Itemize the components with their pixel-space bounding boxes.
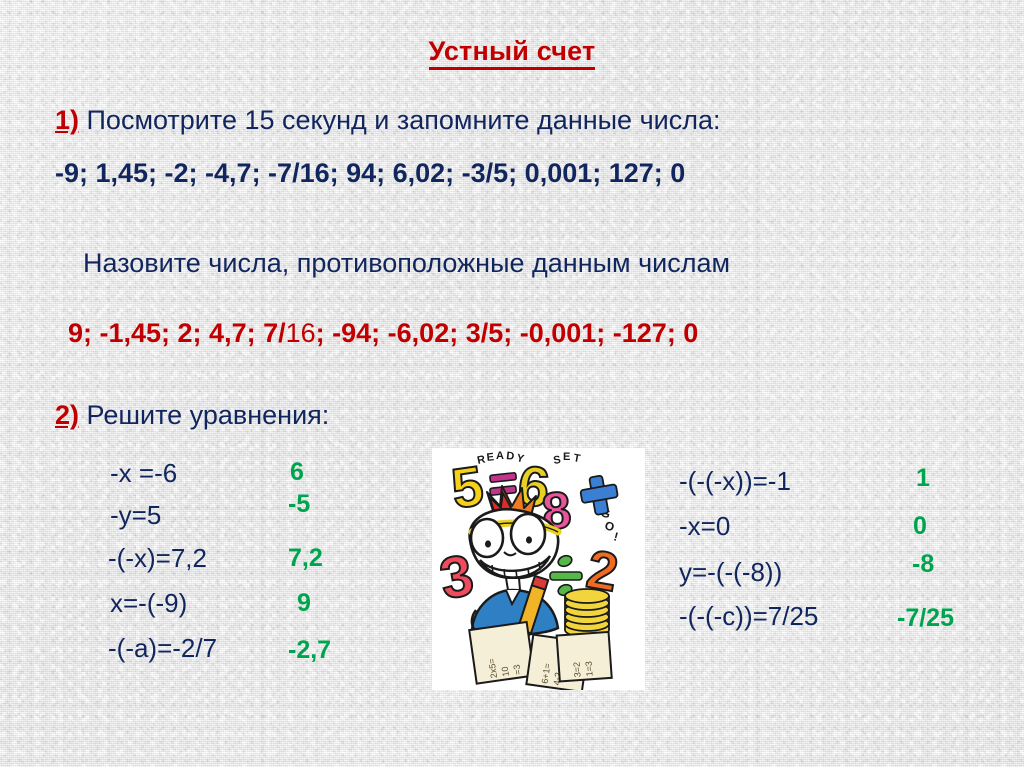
task1-answers-thin: 16 — [286, 318, 316, 348]
page-title: Устный счет — [0, 36, 1024, 67]
task1-prompt-text: Посмотрите 15 секунд и запомните данные … — [79, 105, 720, 135]
svg-text:D: D — [506, 450, 515, 463]
task1-answers: 9; -1,45; 2; 4,7; 7/16; -94; -6,02; 3/5;… — [68, 318, 698, 349]
equation-right-4: -(-(-c))=7/25 — [679, 601, 818, 632]
slide-content: Устный счет 1) Посмотрите 15 секунд и за… — [0, 0, 1024, 767]
task2-prompt-text: Решите уравнения: — [79, 400, 329, 430]
task1-prompt: 1) Посмотрите 15 секунд и запомните данн… — [55, 105, 721, 136]
equation-left-3: -(-x)=7,2 — [108, 543, 207, 574]
svg-text:E: E — [563, 451, 570, 463]
task1-numbers: -9; 1,45; -2; -4,7; -7/16; 94; 6,02; -3/… — [55, 158, 685, 189]
equation-left-4: x=-(-9) — [110, 588, 187, 619]
task1-sub-prompt: Назовите числа, противоположные данным ч… — [83, 248, 730, 279]
task1-answers-prefix: 9; -1,45; 2; 4,7; 7/ — [68, 318, 286, 348]
task1-marker: 1) — [55, 105, 79, 135]
equation-right-3-answer: -8 — [912, 550, 934, 579]
equation-left-5-answer: -2,7 — [288, 636, 331, 665]
svg-text:1=3: 1=3 — [584, 661, 595, 677]
equation-right-2-answer: 0 — [913, 512, 927, 541]
clipart-coin-stack — [565, 589, 609, 637]
task2-marker: 2) — [55, 400, 79, 430]
page-title-text: Устный счет — [429, 36, 596, 70]
equation-right-1-answer: 1 — [916, 464, 930, 493]
svg-text:10: 10 — [500, 666, 511, 677]
task2-prompt: 2) Решите уравнения: — [55, 400, 329, 431]
equation-right-1: -(-(-x))=-1 — [679, 466, 791, 497]
task1-answers-suffix: ; -94; -6,02; 3/5; -0,001; -127; 0 — [316, 318, 699, 348]
svg-text:E: E — [486, 451, 495, 464]
equation-right-2: -x=0 — [679, 511, 730, 542]
equation-left-1-answer: 6 — [290, 458, 304, 487]
equation-left-1: -x =-6 — [110, 458, 177, 489]
math-student-cartoon-image: R E A D Y S E T G O ! 5 — [432, 448, 645, 690]
equation-left-4-answer: 9 — [297, 589, 311, 618]
equation-right-4-answer: -7/25 — [897, 604, 954, 633]
equation-left-5: -(-a)=-2/7 — [108, 633, 217, 664]
equation-right-3: y=-(-(-8)) — [679, 557, 782, 588]
equation-left-2: -y=5 — [110, 500, 161, 531]
equation-left-2-answer: -5 — [288, 490, 310, 519]
equation-left-3-answer: 7,2 — [288, 544, 323, 573]
svg-text:3=2: 3=2 — [572, 662, 583, 678]
svg-text:A: A — [496, 450, 504, 462]
svg-text:=3: =3 — [512, 664, 523, 676]
